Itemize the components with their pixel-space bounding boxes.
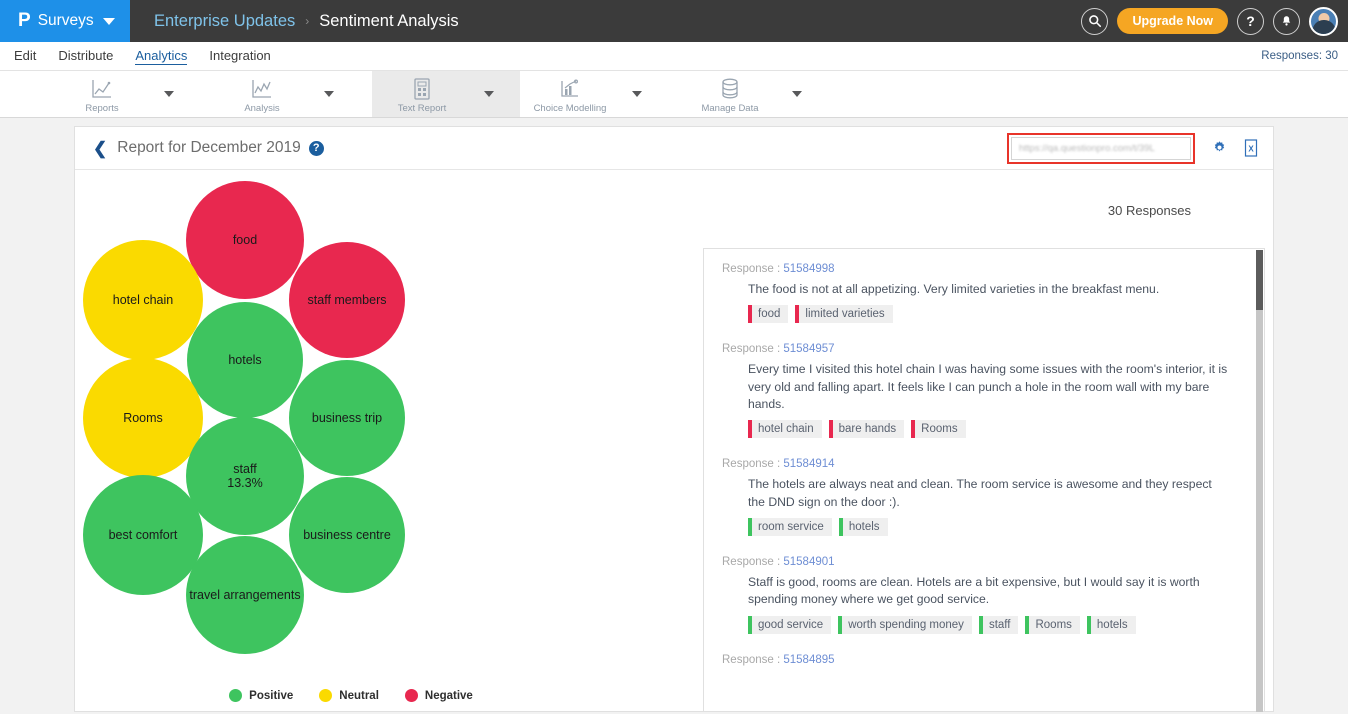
tool-manage-data-label: Manage Data [701, 103, 758, 114]
reports-dropdown-icon[interactable] [164, 91, 174, 97]
bell-icon [1280, 15, 1293, 28]
responses-pane: 30 Responses Response : 51584998The food… [627, 170, 1275, 712]
search-button[interactable] [1081, 8, 1108, 35]
nav-item-distribute[interactable]: Distribute [58, 48, 113, 64]
text-report-dropdown-icon[interactable] [484, 91, 494, 97]
share-url-text: https://qa.questionpro.com/t/39L [1019, 143, 1155, 154]
choice-modelling-icon [558, 77, 582, 100]
response-tag-row: good serviceworth spending moneystaffRoo… [748, 616, 1231, 634]
response-id-link[interactable]: 51584901 [783, 556, 834, 568]
sentiment-tag[interactable]: Rooms [911, 420, 965, 438]
sentiment-tag-label: limited varieties [799, 305, 892, 323]
bubble-staff[interactable]: staff13.3% [186, 417, 304, 535]
response-tag-row: foodlimited varieties [748, 305, 1231, 323]
choice-modelling-dropdown-icon[interactable] [632, 91, 642, 97]
sentiment-tag[interactable]: limited varieties [795, 305, 892, 323]
legend-dot-positive [229, 689, 242, 702]
bubble-hotels[interactable]: hotels [187, 302, 303, 418]
legend-dot-neutral [319, 689, 332, 702]
bubble-travel-arrangements[interactable]: travel arrangements [186, 536, 304, 654]
response-id-link[interactable]: 51584895 [783, 654, 834, 666]
response-id-link[interactable]: 51584998 [783, 263, 834, 275]
search-icon [1088, 14, 1102, 28]
bubble-business-centre[interactable]: business centre [289, 477, 405, 593]
sentiment-tag-label: hotels [843, 518, 888, 536]
response-item: Response : 51584957Every time I visited … [704, 329, 1249, 444]
question-mark-icon: ? [1246, 13, 1255, 29]
tool-text-report-label: Text Report [398, 103, 447, 114]
bubble-food[interactable]: food [186, 181, 304, 299]
legend-label-neutral: Neutral [339, 690, 379, 702]
sentiment-tag-label: Rooms [915, 420, 965, 438]
bubble-staff-members[interactable]: staff members [289, 242, 405, 358]
breadcrumb-separator-icon: › [305, 14, 309, 28]
tool-choice-modelling-label: Choice Modelling [534, 103, 607, 114]
bubble-label: staff [233, 462, 256, 476]
response-item: Response : 51584998The food is not at al… [704, 249, 1249, 329]
bubble-label: food [233, 233, 257, 247]
brand-surveys-menu[interactable]: P Surveys [0, 0, 130, 42]
response-item: Response : 51584901Staff is good, rooms … [704, 542, 1249, 640]
tool-analysis[interactable]: Analysis [212, 71, 372, 117]
export-excel-button[interactable]: X [1243, 139, 1259, 162]
response-id-link[interactable]: 51584914 [783, 458, 834, 470]
page-body: ❮ Report for December 2019 ? https://qa.… [0, 118, 1348, 714]
response-id-line: Response : 51584895 [722, 654, 1231, 666]
avatar-body [1312, 20, 1335, 34]
sentiment-tag-label: hotel chain [752, 420, 822, 438]
response-item: Response : 51584895 [704, 640, 1249, 678]
back-icon[interactable]: ❮ [93, 140, 107, 157]
response-tag-row: hotel chainbare handsRooms [748, 420, 1231, 438]
responses-scrollbar-track[interactable] [1256, 250, 1263, 712]
response-id-line: Response : 51584998 [722, 263, 1231, 275]
bubble-label: staff members [308, 293, 387, 307]
tool-analysis-label: Analysis [244, 103, 279, 114]
settings-button[interactable] [1212, 140, 1227, 160]
sentiment-tag-label: staff [983, 616, 1019, 634]
sentiment-tag[interactable]: food [748, 305, 788, 323]
share-url-field[interactable]: https://qa.questionpro.com/t/39L [1011, 137, 1191, 160]
sentiment-tag[interactable]: staff [979, 616, 1019, 634]
brand-label: Surveys [38, 12, 94, 30]
share-url-highlight: https://qa.questionpro.com/t/39L [1007, 133, 1195, 164]
top-bar-actions: Upgrade Now ? [1081, 0, 1338, 42]
gear-icon [1212, 140, 1227, 155]
bubble-label: Rooms [123, 411, 163, 425]
legend-item-neutral: Neutral [319, 689, 379, 702]
page-title: Report for December 2019 [117, 139, 301, 157]
sentiment-bubble-chart: foodstaff membershotel chainhotelsRoomsb… [75, 170, 627, 712]
response-id-line: Response : 51584914 [722, 458, 1231, 470]
nav-item-edit[interactable]: Edit [14, 48, 36, 64]
response-id-link[interactable]: 51584957 [783, 343, 834, 355]
text-report-icon [411, 77, 433, 100]
breadcrumb: Enterprise Updates › Sentiment Analysis [154, 12, 459, 31]
report-header: ❮ Report for December 2019 ? https://qa.… [75, 127, 1273, 170]
user-avatar[interactable] [1309, 7, 1338, 36]
sentiment-tag[interactable]: hotels [839, 518, 888, 536]
bubble-best-comfort[interactable]: best comfort [83, 475, 203, 595]
analysis-chart-icon [250, 77, 274, 100]
sentiment-tag-label: Rooms [1029, 616, 1079, 634]
tool-choice-modelling[interactable]: Choice Modelling [520, 71, 680, 117]
help-button[interactable]: ? [1237, 8, 1264, 35]
notifications-button[interactable] [1273, 8, 1300, 35]
sentiment-tag-label: hotels [1091, 616, 1136, 634]
tool-reports-label: Reports [85, 103, 118, 114]
upgrade-now-button[interactable]: Upgrade Now [1117, 8, 1228, 34]
tool-reports[interactable]: Reports [52, 71, 212, 117]
database-icon [719, 77, 741, 100]
sentiment-tag[interactable]: bare hands [829, 420, 905, 438]
sentiment-tag-label: food [752, 305, 788, 323]
help-icon[interactable]: ? [309, 141, 324, 156]
tool-text-report[interactable]: Text Report [372, 71, 520, 117]
sentiment-tag[interactable]: hotels [1087, 616, 1136, 634]
chart-legend: Positive Neutral Negative [75, 689, 627, 702]
response-tag-row: room servicehotels [748, 518, 1231, 536]
response-id-line: Response : 51584957 [722, 343, 1231, 355]
sentiment-tag-label: good service [752, 616, 831, 634]
section-nav: Edit Distribute Analytics Integration Re… [0, 42, 1348, 71]
response-item: Response : 51584914The hotels are always… [704, 444, 1249, 542]
analysis-dropdown-icon[interactable] [324, 91, 334, 97]
response-text: The hotels are always neat and clean. Th… [748, 476, 1231, 511]
responses-list: Response : 51584998The food is not at al… [704, 249, 1249, 678]
responses-scrollbar-thumb[interactable] [1256, 250, 1263, 310]
tool-ribbon: Reports Analysis [0, 71, 1348, 118]
legend-item-negative: Negative [405, 689, 473, 702]
manage-data-dropdown-icon[interactable] [792, 91, 802, 97]
bubble-label: hotels [228, 353, 261, 367]
sentiment-tag[interactable]: worth spending money [838, 616, 972, 634]
response-text: Staff is good, rooms are clean. Hotels a… [748, 574, 1231, 609]
bubble-business-trip[interactable]: business trip [289, 360, 405, 476]
bubble-label: business trip [312, 411, 382, 425]
response-text: The food is not at all appetizing. Very … [748, 281, 1231, 298]
bubble-value: 13.3% [227, 476, 262, 490]
chevron-down-icon [103, 18, 115, 25]
response-id-line: Response : 51584901 [722, 556, 1231, 568]
bubble-hotel-chain[interactable]: hotel chain [83, 240, 203, 360]
legend-item-positive: Positive [229, 689, 293, 702]
breadcrumb-parent-link[interactable]: Enterprise Updates [154, 12, 295, 31]
bubble-rooms[interactable]: Rooms [83, 358, 203, 478]
sentiment-tag-label: bare hands [833, 420, 905, 438]
report-card: ❮ Report for December 2019 ? https://qa.… [74, 126, 1274, 712]
top-bar: P Surveys Enterprise Updates › Sentiment… [0, 0, 1348, 42]
nav-item-analytics[interactable]: Analytics [135, 48, 187, 65]
sentiment-tag-label: worth spending money [842, 616, 972, 634]
sentiment-tag-label: room service [752, 518, 832, 536]
sentiment-tag[interactable]: Rooms [1025, 616, 1079, 634]
nav-item-integration[interactable]: Integration [209, 48, 270, 64]
svg-text:X: X [1248, 145, 1254, 154]
legend-label-positive: Positive [249, 690, 293, 702]
line-chart-icon [90, 77, 114, 100]
responses-count-label: Responses: 30 [1261, 50, 1338, 62]
breadcrumb-current: Sentiment Analysis [319, 12, 458, 31]
bubble-label: business centre [303, 528, 391, 542]
excel-export-icon: X [1243, 139, 1259, 157]
legend-dot-negative [405, 689, 418, 702]
tool-manage-data[interactable]: Manage Data [680, 71, 840, 117]
sentiment-tag[interactable]: hotel chain [748, 420, 822, 438]
questionpro-logo-icon: P [18, 11, 31, 30]
bubble-label: travel arrangements [189, 588, 300, 602]
bubble-label: best comfort [109, 528, 178, 542]
sentiment-tag[interactable]: room service [748, 518, 832, 536]
bubble-label: hotel chain [113, 293, 173, 307]
responses-list-container: Response : 51584998The food is not at al… [703, 248, 1265, 712]
legend-label-negative: Negative [425, 690, 473, 702]
response-text: Every time I visited this hotel chain I … [748, 361, 1231, 413]
sentiment-tag[interactable]: good service [748, 616, 831, 634]
responses-total-label: 30 Responses [1108, 203, 1191, 218]
